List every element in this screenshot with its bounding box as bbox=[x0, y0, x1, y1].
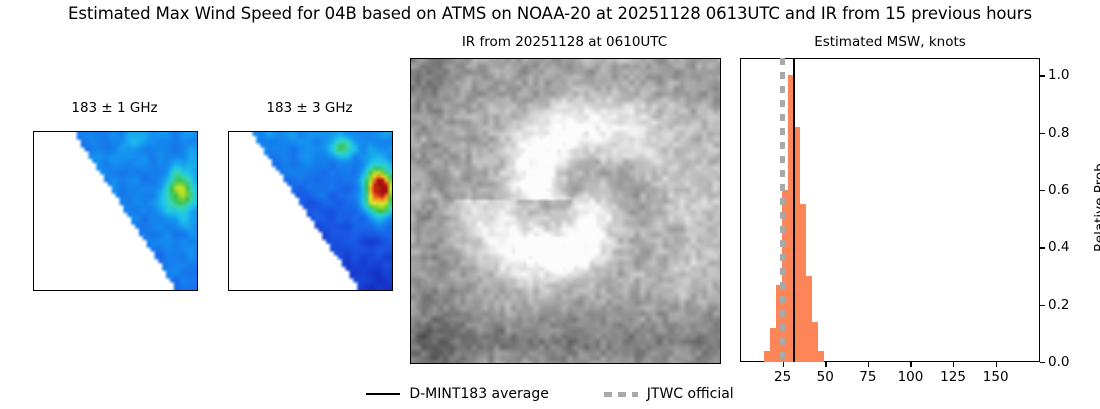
msw-histogram: 255075100125150 0.00.20.40.60.81.0 Relat… bbox=[740, 58, 1040, 362]
x-axis-tick bbox=[783, 362, 784, 367]
x-axis-tick-label: 50 bbox=[817, 369, 834, 385]
histogram-bar bbox=[818, 351, 824, 362]
mw2-brightness-temperature-canvas bbox=[229, 132, 392, 290]
y-axis-tick bbox=[1040, 75, 1045, 76]
legend-solid-line-icon bbox=[366, 393, 400, 395]
y-axis-tick-label: 0.6 bbox=[1048, 182, 1069, 198]
x-axis-tick bbox=[996, 362, 997, 367]
mw2-183ghz-image bbox=[228, 131, 393, 291]
legend-dashed-line-icon bbox=[604, 392, 638, 397]
histogram-y-axis-label: Relative Prob bbox=[1092, 163, 1100, 252]
legend-item-dmint183: D-MINT183 average bbox=[366, 386, 549, 402]
y-axis-tick-label: 0.4 bbox=[1048, 239, 1069, 255]
figure-suptitle: Estimated Max Wind Speed for 04B based o… bbox=[0, 4, 1100, 23]
x-axis-tick bbox=[953, 362, 954, 367]
figure-canvas: Estimated Max Wind Speed for 04B based o… bbox=[0, 0, 1100, 409]
hist-panel-title: Estimated MSW, knots bbox=[740, 34, 1040, 50]
ir-greyscale-canvas bbox=[411, 59, 720, 363]
mw1-panel-title: 183 ± 1 GHz bbox=[33, 100, 196, 116]
figure-legend: D-MINT183 average JTWC official bbox=[0, 386, 1100, 402]
x-axis-tick-label: 150 bbox=[983, 369, 1009, 385]
x-axis-tick-label: 125 bbox=[940, 369, 966, 385]
x-axis-tick-label: 100 bbox=[898, 369, 924, 385]
legend-label-jtwc: JTWC official bbox=[647, 386, 734, 402]
ir-satellite-image bbox=[410, 58, 721, 364]
x-axis-tick bbox=[825, 362, 826, 367]
y-axis-tick bbox=[1040, 247, 1045, 248]
y-axis-tick bbox=[1040, 305, 1045, 306]
jtwc-official-vline bbox=[780, 58, 785, 362]
mw2-panel-title: 183 ± 3 GHz bbox=[228, 100, 391, 116]
legend-item-jtwc: JTWC official bbox=[604, 386, 734, 402]
x-axis-tick-label: 75 bbox=[859, 369, 876, 385]
mw1-brightness-temperature-canvas bbox=[34, 132, 197, 290]
x-axis-tick bbox=[910, 362, 911, 367]
dmint183-average-vline bbox=[793, 58, 795, 362]
mw1-183ghz-image bbox=[33, 131, 198, 291]
y-axis-tick bbox=[1040, 190, 1045, 191]
legend-label-dmint183: D-MINT183 average bbox=[409, 386, 549, 402]
y-axis-tick bbox=[1040, 133, 1045, 134]
y-axis-tick-label: 0.8 bbox=[1048, 125, 1069, 141]
ir-panel-title: IR from 20251128 at 0610UTC bbox=[410, 34, 719, 50]
x-axis-tick bbox=[868, 362, 869, 367]
y-axis-tick-label: 0.2 bbox=[1048, 297, 1069, 313]
y-axis-tick bbox=[1040, 362, 1045, 363]
y-axis-tick-label: 1.0 bbox=[1048, 67, 1069, 83]
y-axis-tick-label: 0.0 bbox=[1048, 354, 1069, 370]
x-axis-tick-label: 25 bbox=[774, 369, 791, 385]
